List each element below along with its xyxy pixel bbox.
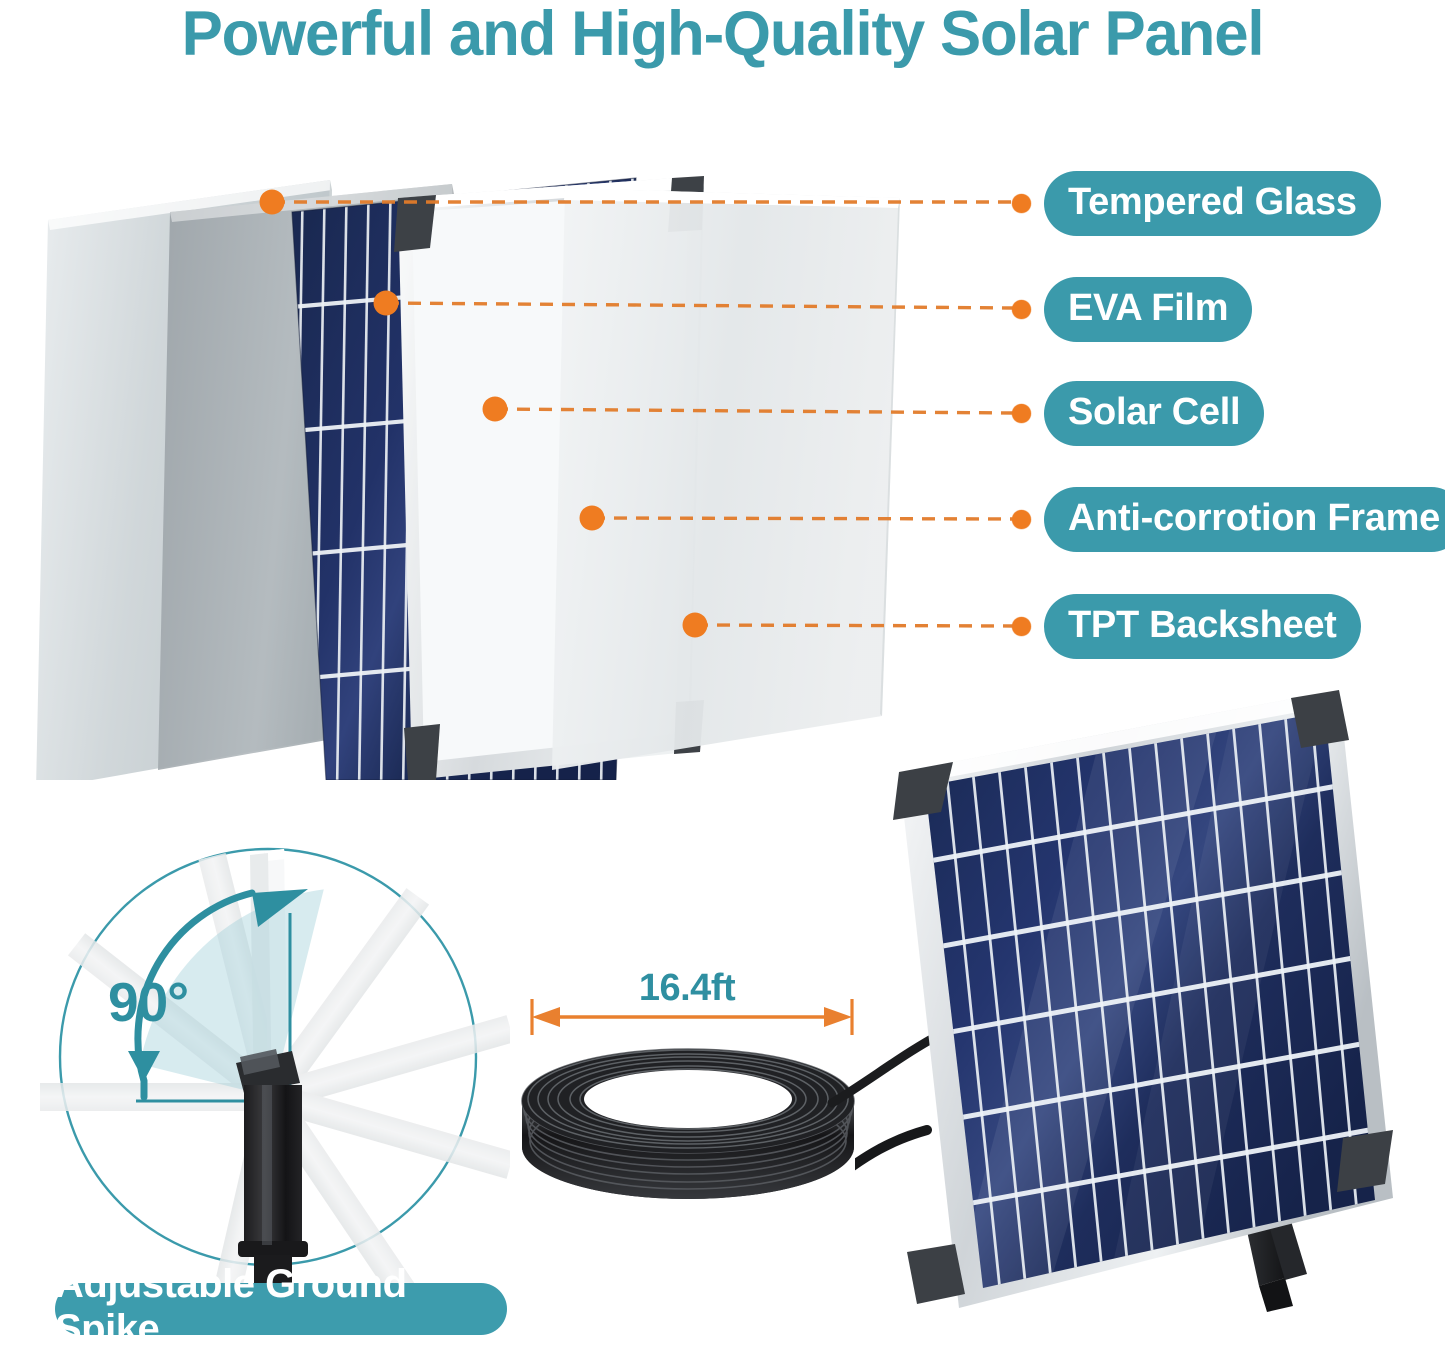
panel-cable bbox=[855, 1130, 927, 1176]
source-dot-backsheet bbox=[683, 613, 708, 638]
orange-dot-icon bbox=[1012, 617, 1031, 636]
callout-label: Anti-corrotion Frame bbox=[1044, 487, 1445, 552]
orange-dot-icon bbox=[1012, 300, 1031, 319]
infographic-canvas: Powerful and High-Quality Solar Panel bbox=[0, 0, 1445, 1346]
ground-spike-caption: Adjustable Ground Spike bbox=[55, 1283, 507, 1335]
source-dot-tempered-glass bbox=[260, 190, 285, 215]
callout-source-dots bbox=[260, 190, 708, 638]
connector-line-solar-cell bbox=[495, 409, 1014, 413]
connector-line-frame bbox=[592, 518, 1014, 519]
source-dot-frame bbox=[580, 506, 605, 531]
callout-label: TPT Backsheet bbox=[1044, 594, 1361, 659]
ground-spike-rotation-diagram bbox=[40, 845, 510, 1305]
callout-label: Solar Cell bbox=[1044, 381, 1264, 446]
connector-line-eva-film bbox=[386, 303, 1014, 308]
assembled-solar-panel bbox=[855, 660, 1445, 1320]
orange-dot-icon bbox=[1012, 510, 1031, 529]
callout-label: EVA Film bbox=[1044, 277, 1252, 342]
angle-label: 90° bbox=[108, 975, 188, 1030]
source-dot-solar-cell bbox=[483, 397, 508, 422]
orange-dot-icon bbox=[1012, 194, 1031, 213]
callout-label: Tempered Glass bbox=[1044, 171, 1381, 236]
ground-spike-caption-text: Adjustable Ground Spike bbox=[55, 1262, 507, 1352]
source-dot-eva-film bbox=[374, 291, 399, 316]
double-arrow-icon bbox=[532, 999, 852, 1035]
orange-dot-icon bbox=[1012, 404, 1031, 423]
connector-line-backsheet bbox=[695, 625, 1014, 626]
